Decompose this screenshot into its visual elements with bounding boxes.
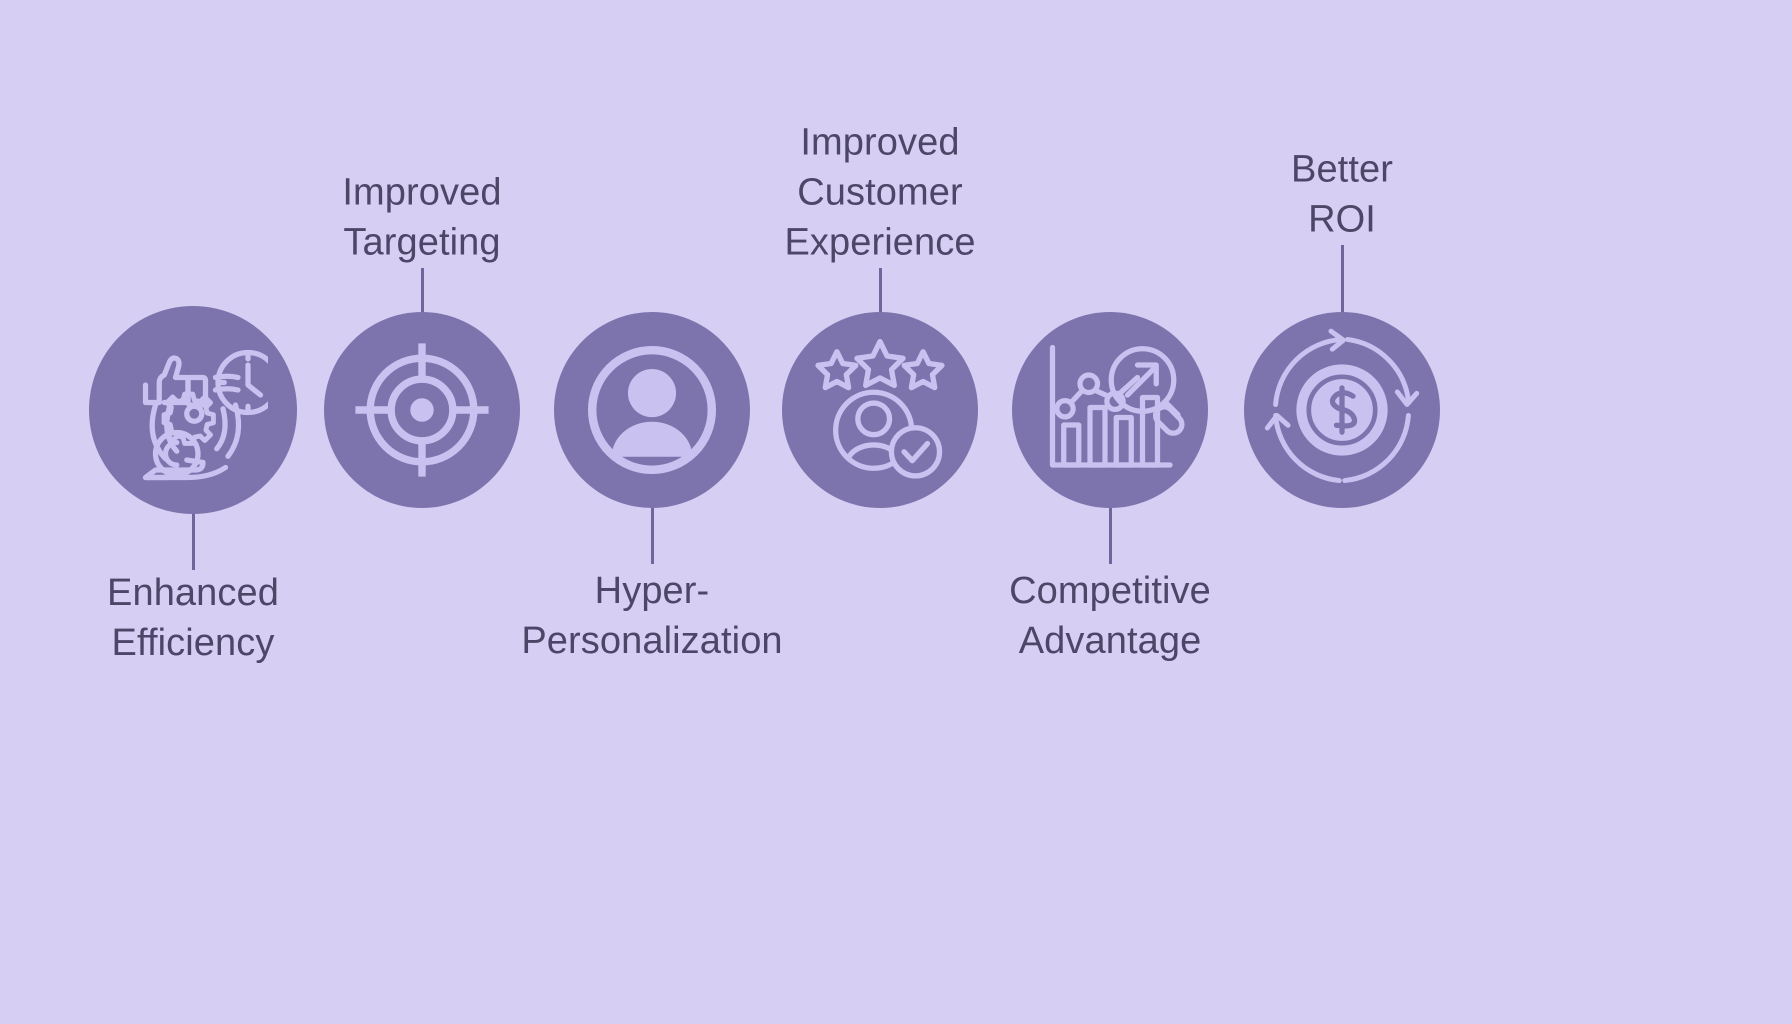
connector-line-better-roi: [1341, 245, 1344, 312]
node-label-better-roi: Better ROI: [1291, 145, 1393, 245]
connector-line-hyper-personalization: [651, 508, 654, 564]
icon-circle-improved-customer-experience[interactable]: [782, 312, 978, 508]
infographic-canvas: Enhanced Efficiency Improved Targeting: [0, 0, 1792, 1024]
connector-line-improved-customer-experience: [879, 268, 882, 312]
node-label-enhanced-efficiency: Enhanced Efficiency: [107, 568, 279, 668]
growth-analysis-icon: [1035, 335, 1185, 485]
star-rating-user-icon: [804, 334, 956, 486]
icon-circle-enhanced-efficiency[interactable]: [89, 306, 297, 514]
node-label-improved-targeting: Improved Targeting: [342, 168, 501, 268]
node-label-competitive-advantage: Competitive Advantage: [1009, 566, 1211, 666]
efficiency-icon: [118, 335, 268, 485]
node-label-improved-customer-experience: Improved Customer Experience: [784, 118, 975, 268]
connector-line-enhanced-efficiency: [192, 514, 195, 570]
roi-money-cycle-icon: [1259, 327, 1425, 493]
target-icon: [348, 336, 496, 484]
connector-line-competitive-advantage: [1109, 508, 1112, 564]
icon-circle-better-roi[interactable]: [1244, 312, 1440, 508]
icon-circle-improved-targeting[interactable]: [324, 312, 520, 508]
user-profile-icon: [574, 332, 730, 488]
icon-circle-hyper-personalization[interactable]: [554, 312, 750, 508]
node-label-hyper-personalization: Hyper- Personalization: [521, 566, 782, 666]
icon-circle-competitive-advantage[interactable]: [1012, 312, 1208, 508]
connector-line-improved-targeting: [421, 268, 424, 312]
